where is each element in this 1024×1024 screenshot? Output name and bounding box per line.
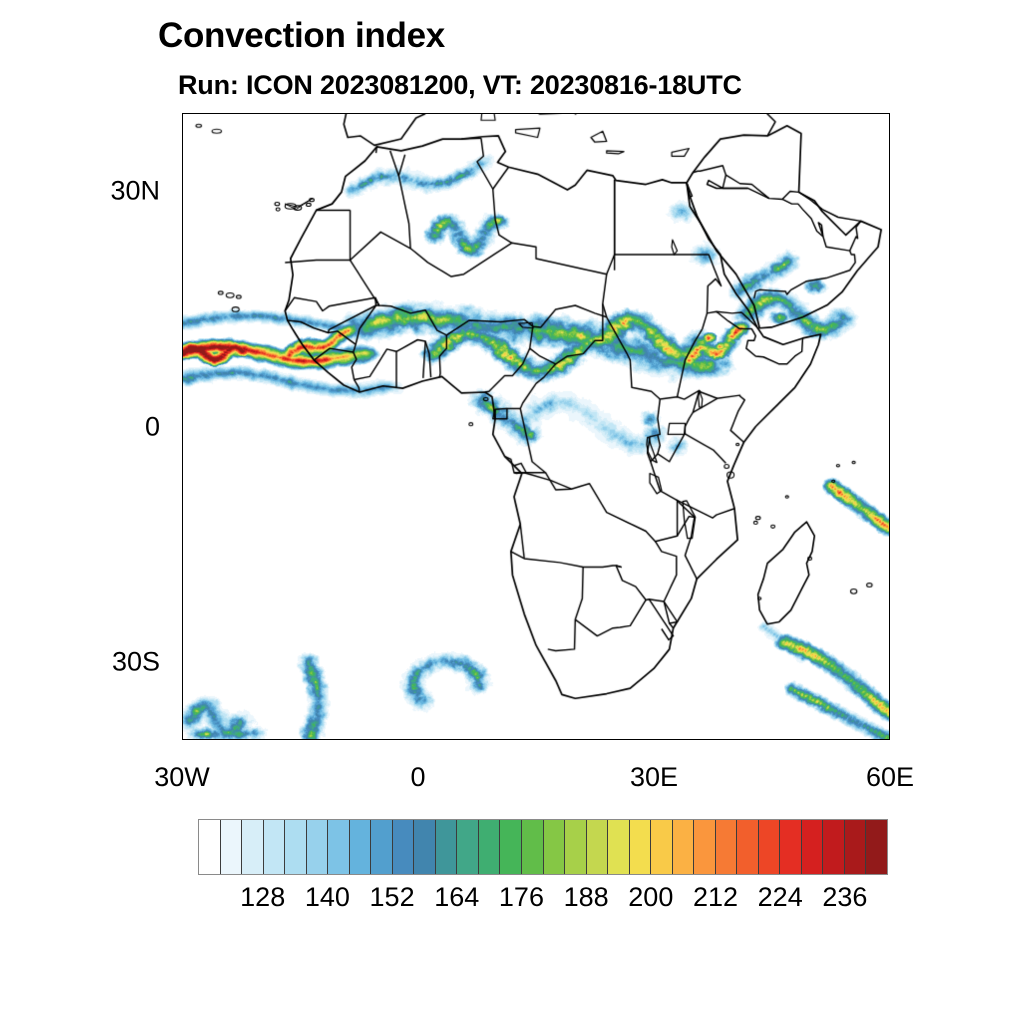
colorbar-cell [565, 820, 587, 874]
colorbar-gradient [198, 819, 888, 875]
colorbar-cell [802, 820, 824, 874]
colorbar-cell [414, 820, 436, 874]
colorbar-tick-label: 224 [758, 882, 803, 913]
colorbar-cell [823, 820, 845, 874]
colorbar-cell [285, 820, 307, 874]
colorbar-cell [457, 820, 479, 874]
colorbar-cell [673, 820, 695, 874]
y-tick-minor [182, 271, 183, 273]
colorbar-cell [500, 820, 522, 874]
colorbar-cell [371, 820, 393, 874]
colorbar-tick-label: 212 [693, 882, 738, 913]
x-axis-label: 0 [410, 762, 425, 793]
colorbar-tick-label: 164 [434, 882, 479, 913]
colorbar-cell [630, 820, 652, 874]
colorbar-tick-label: 176 [499, 882, 544, 913]
colorbar-cell [845, 820, 867, 874]
colorbar-tick-label: 200 [628, 882, 673, 913]
colorbar-tick-label: 140 [305, 882, 350, 913]
colorbar-cell [587, 820, 609, 874]
colorbar-cell [328, 820, 350, 874]
y-axis-label: 0 [0, 411, 160, 442]
colorbar-cell [608, 820, 630, 874]
x-axis-label: 60E [866, 762, 914, 793]
colorbar-cell [436, 820, 458, 874]
colorbar-cell [651, 820, 673, 874]
colorbar-cell [350, 820, 372, 874]
y-tick-major [182, 192, 183, 194]
colorbar-cell [221, 820, 243, 874]
y-tick-major [182, 428, 183, 430]
colorbar-cell [866, 820, 887, 874]
colorbar-cell [479, 820, 501, 874]
colorbar-cell [716, 820, 738, 874]
colorbar-tick-label: 152 [370, 882, 415, 913]
y-axis-label: 30S [0, 646, 160, 677]
colorbar-cell [393, 820, 415, 874]
y-tick-major [182, 663, 183, 665]
colorbar[interactable] [198, 819, 888, 875]
y-tick-minor [182, 349, 183, 351]
convection-index-heatmap [183, 114, 889, 739]
page-title: Convection index [158, 16, 445, 56]
colorbar-cell [264, 820, 286, 874]
colorbar-cell [780, 820, 802, 874]
x-axis-label: 30W [154, 762, 210, 793]
page-subtitle: Run: ICON 2023081200, VT: 20230816-18UTC [178, 70, 742, 101]
colorbar-tick-label: 128 [240, 882, 285, 913]
colorbar-cell [737, 820, 759, 874]
colorbar-cell [759, 820, 781, 874]
x-axis-label: 30E [630, 762, 678, 793]
colorbar-cell [522, 820, 544, 874]
y-axis-label: 30N [0, 176, 160, 207]
colorbar-tick-label: 188 [564, 882, 609, 913]
colorbar-tick-label: 236 [822, 882, 867, 913]
y-tick-minor [182, 584, 183, 586]
colorbar-cell [307, 820, 329, 874]
colorbar-cell [694, 820, 716, 874]
y-tick-minor [182, 506, 183, 508]
colorbar-cell [199, 820, 221, 874]
colorbar-cell [242, 820, 264, 874]
map-plot-area[interactable] [182, 113, 890, 740]
colorbar-cell [544, 820, 566, 874]
